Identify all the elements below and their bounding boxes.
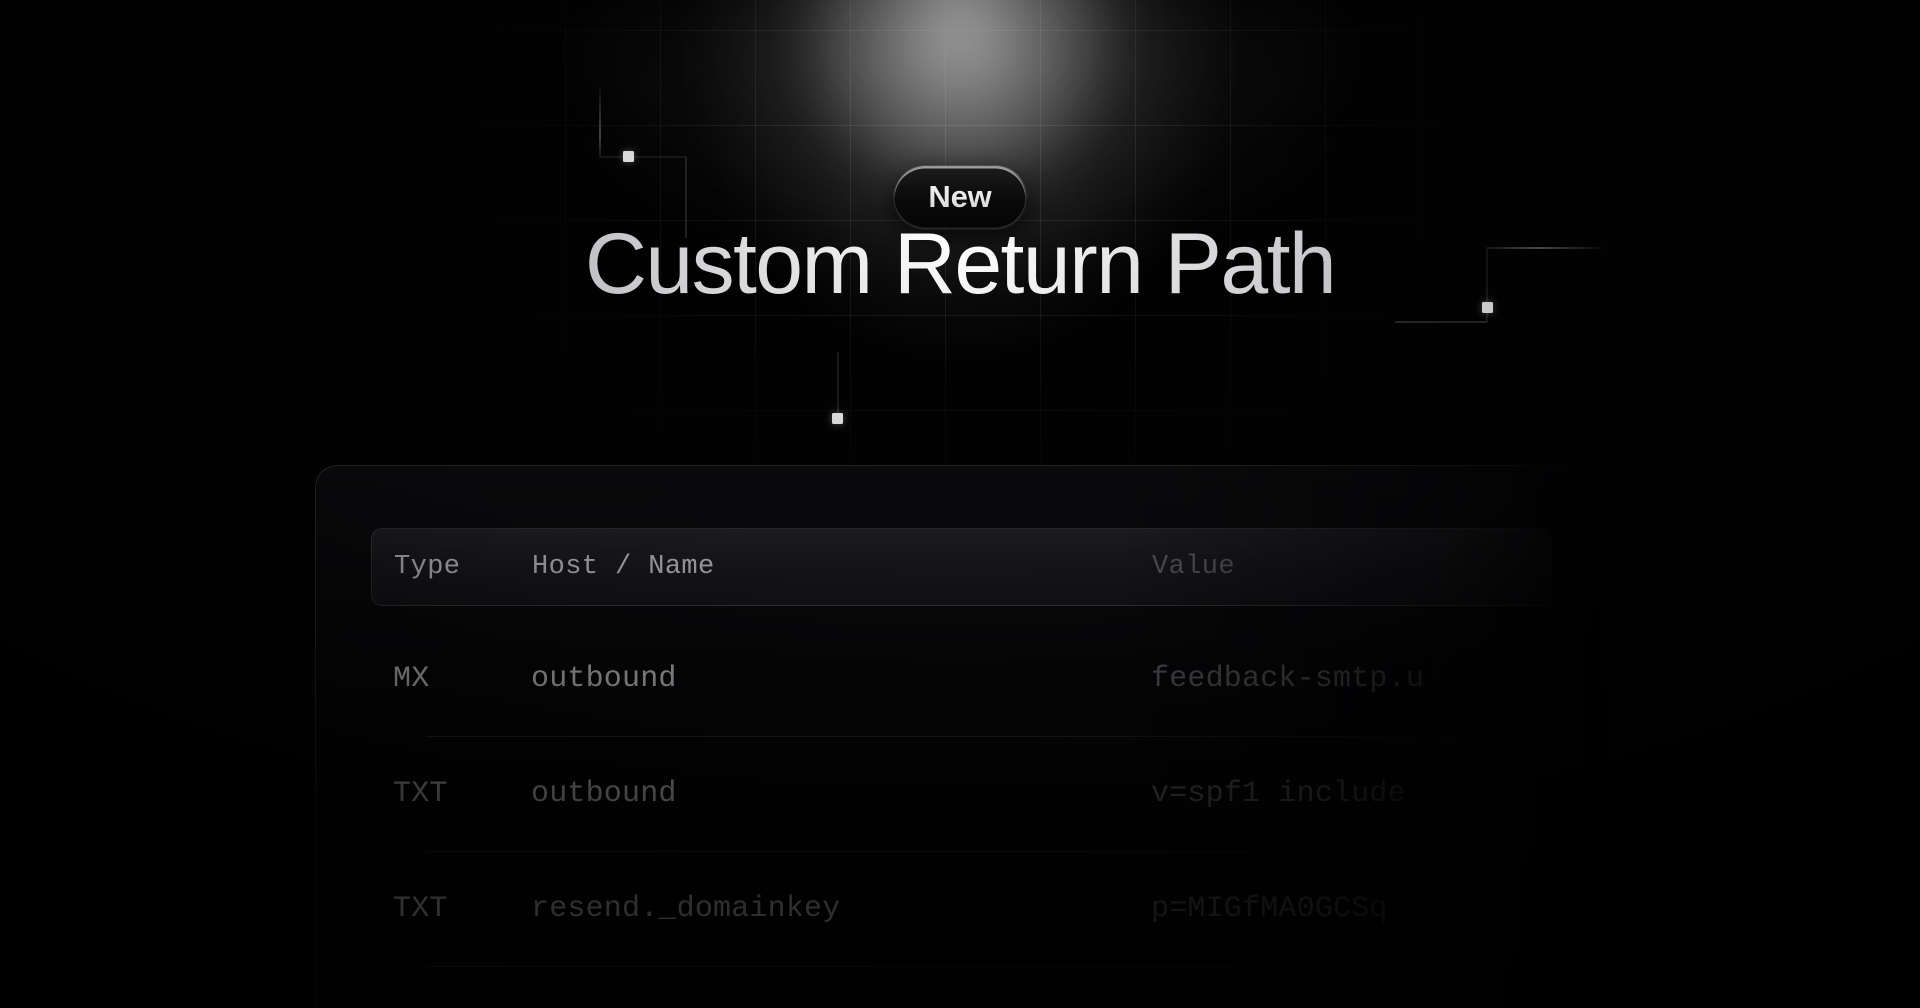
new-badge-label: New <box>928 181 991 212</box>
column-header-host: Host / Name <box>532 552 1152 582</box>
column-header-type: Type <box>372 552 532 582</box>
column-header-value: Value <box>1152 552 1550 582</box>
dns-table-header: Type Host / Name Value <box>371 528 1551 606</box>
hero-graphic: New Custom Return Path Type Host / Name … <box>0 0 1920 1008</box>
circuit-trace-bottom-path <box>430 352 1000 419</box>
cell-type: TXT <box>371 777 531 811</box>
page-title: Custom Return Path <box>0 216 1920 312</box>
cell-value: v=spf1 include <box>1151 777 1605 811</box>
table-row-partial <box>371 966 1605 1008</box>
circuit-node-left <box>623 151 634 162</box>
cell-type: MX <box>371 662 531 696</box>
row-divider <box>426 851 1605 852</box>
cell-value: feedback-smtp.u <box>1151 662 1605 696</box>
circuit-node-bottom <box>832 413 843 424</box>
table-row[interactable]: TXT outbound v=spf1 include <box>371 736 1605 851</box>
table-row[interactable]: MX outbound feedback-smtp.u <box>371 621 1605 736</box>
cell-host: resend._domainkey <box>531 892 1151 926</box>
cell-type: TXT <box>371 892 531 926</box>
dns-records-card: Type Host / Name Value MX outbound feedb… <box>315 465 1605 1008</box>
dns-table-body: MX outbound feedback-smtp.u TXT outbound… <box>371 621 1605 1008</box>
table-row[interactable]: TXT resend._domainkey p=MIGfMA0GCSq <box>371 851 1605 966</box>
cell-host: outbound <box>531 777 1151 811</box>
row-divider <box>426 736 1605 737</box>
cell-value: p=MIGfMA0GCSq <box>1151 892 1605 926</box>
cell-host: outbound <box>531 662 1151 696</box>
row-divider <box>426 966 1605 967</box>
